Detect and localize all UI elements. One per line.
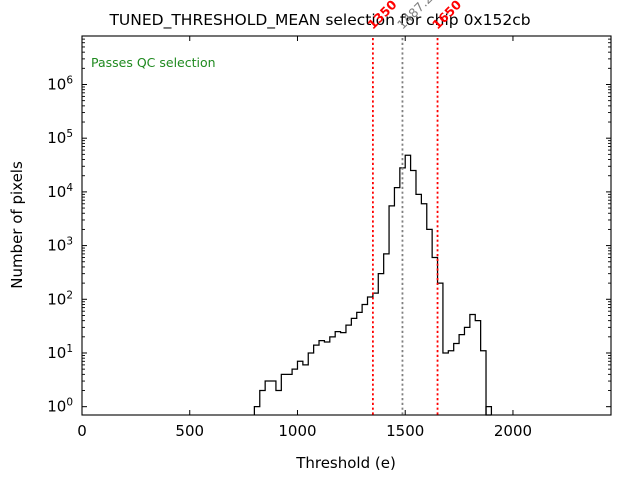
x-tick-label: 1500 (386, 422, 424, 440)
y-axis-ticks: 100101102103104105106 (47, 36, 611, 416)
threshold-marker-lines (373, 38, 438, 415)
y-tick-label: 105 (47, 128, 73, 147)
histogram-chart: TUNED_THRESHOLD_MEAN selection for chip … (0, 0, 640, 480)
chart-page: TUNED_THRESHOLD_MEAN selection for chip … (0, 0, 640, 480)
y-tick-label: 103 (47, 236, 73, 255)
plot-frame (82, 36, 611, 415)
x-tick-label: 2000 (494, 422, 532, 440)
x-axis-title: Threshold (e) (295, 454, 396, 472)
y-axis-title: Number of pixels (8, 161, 26, 289)
y-tick-label: 101 (47, 343, 73, 362)
y-tick-label: 104 (47, 182, 73, 201)
histogram-outlier-bin (486, 407, 491, 415)
x-tick-label: 0 (77, 422, 87, 440)
y-tick-label: 100 (47, 397, 73, 416)
y-tick-label: 102 (47, 289, 73, 308)
chart-title: TUNED_THRESHOLD_MEAN selection for chip … (108, 11, 530, 30)
qc-status-note: Passes QC selection (91, 55, 216, 70)
y-tick-label: 106 (47, 74, 73, 93)
x-tick-label: 1000 (278, 422, 316, 440)
x-axis-ticks: 0500100015002000 (77, 36, 532, 440)
x-tick-label: 500 (175, 422, 204, 440)
